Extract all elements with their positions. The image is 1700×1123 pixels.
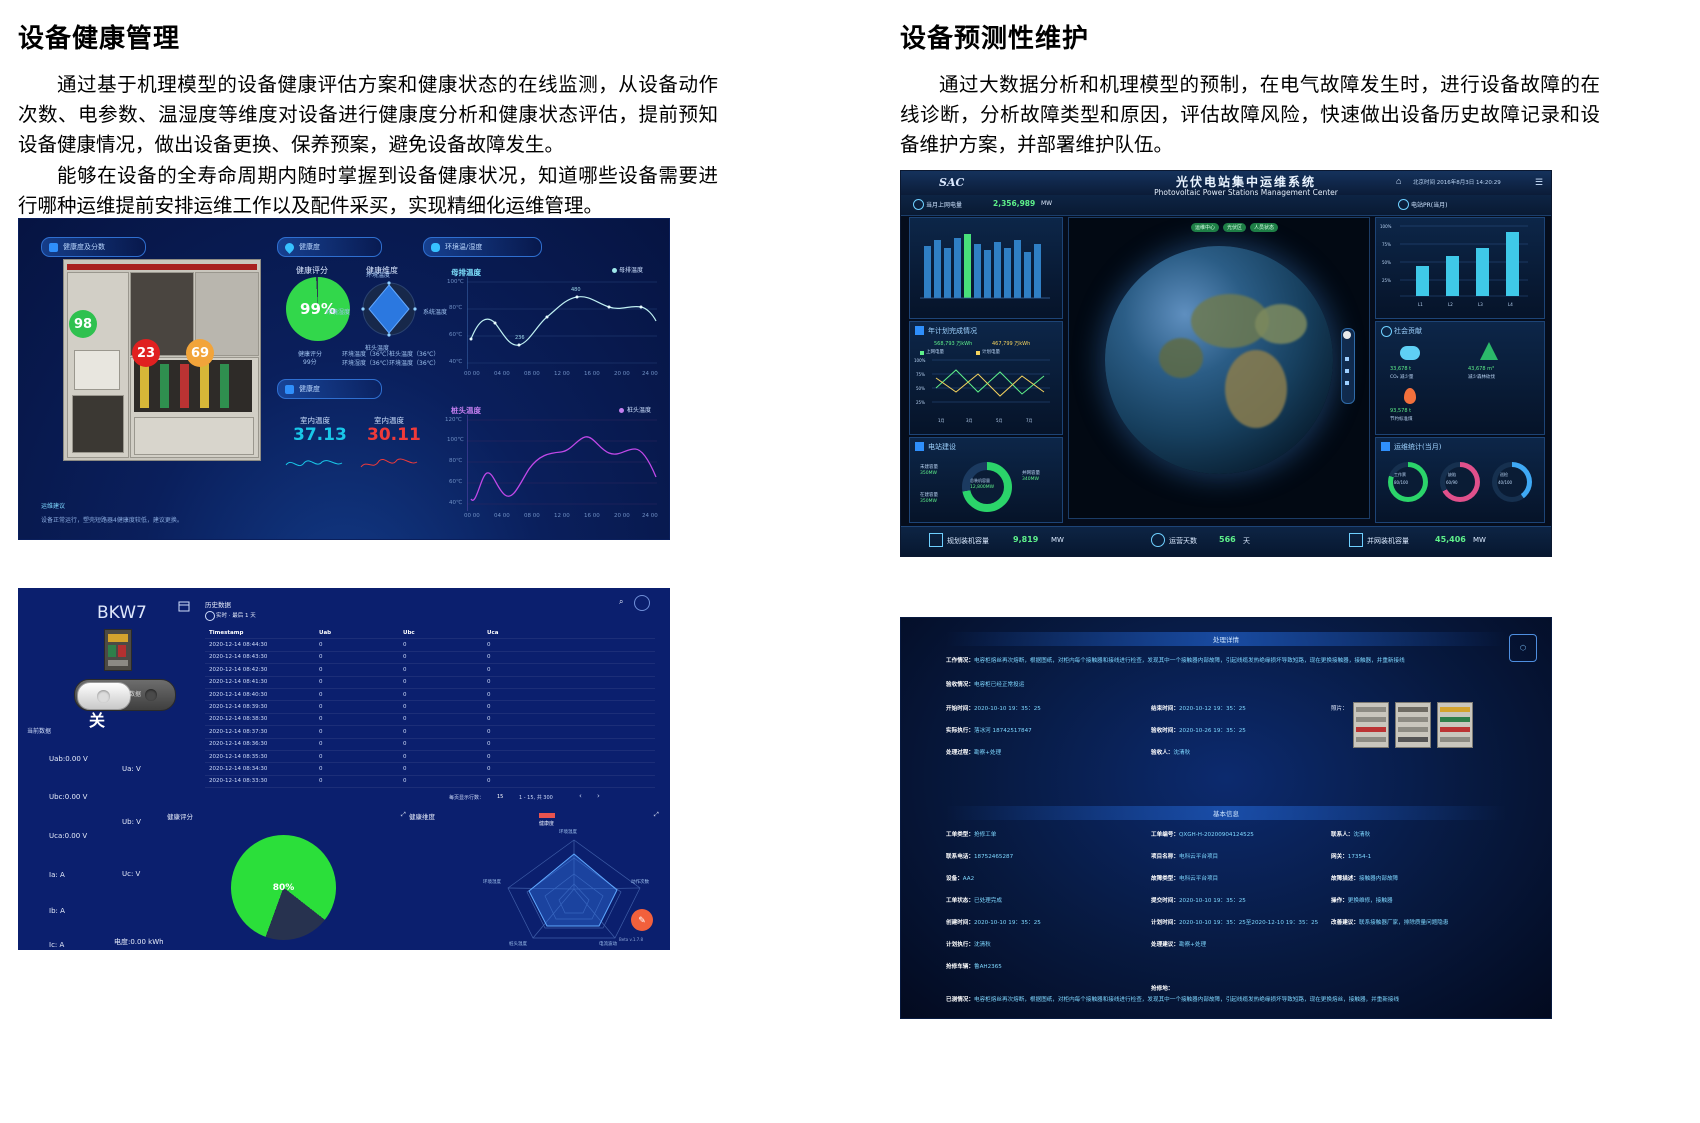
pv-build-panel: 电站建设 未建容量 350MW 在建容量 350MW 并网容量 340MW 总装…: [909, 437, 1063, 523]
power-toggle-knob[interactable]: [77, 682, 131, 710]
switchgear-photo: [63, 259, 261, 461]
busbar-y-0: 100℃: [447, 279, 464, 285]
legend-row1-col1: 环境温度（36℃）: [342, 349, 392, 358]
measure-ib: Ib: A: [49, 907, 65, 915]
pv-pr-y1: 75%: [1382, 242, 1391, 247]
pv-footer-value-2: 45,406: [1435, 535, 1466, 544]
basic-field-value: 已处理完成: [974, 898, 1002, 904]
breaker-image: [104, 629, 132, 671]
pv-build-label-3: 并网容量: [1022, 470, 1040, 476]
measure-ub: Ub: V: [122, 818, 141, 826]
basic-field-value: 沈清秋: [974, 942, 991, 948]
cell-value: 0: [403, 642, 487, 648]
right-paragraph-1: 通过大数据分析和机理模型的预制，在电气故障发生时，进行设备故障的在线诊断，分析故…: [900, 71, 1600, 162]
cell-timestamp: 2020-12-14 08:44:30: [205, 642, 319, 648]
detail-row-0-left-value: 2020-10-10 19：35：25: [974, 706, 1041, 712]
cell-value: 0: [319, 654, 403, 660]
tree-icon: [1480, 342, 1498, 360]
busbar-chart-legend: 母排温度: [619, 265, 643, 274]
cell-value: 0: [319, 754, 403, 760]
home-icon[interactable]: ⌂: [1396, 176, 1401, 186]
table-row[interactable]: 2020-12-14 08:37:30000: [205, 726, 655, 738]
table-row[interactable]: 2020-12-14 08:43:30000: [205, 652, 655, 664]
work-order-screenshot: 处理详情 ⬡ 工作情况：电容柜熔丝再次熔断，根据图纸，对柜内每个接触器和接线进行…: [900, 617, 1552, 1019]
busbar-temperature-chart: 236 480: [467, 277, 657, 369]
left-paragraph-1: 通过基于机理模型的设备健康评估方案和健康状态的在线监测，从设备动作次数、电参数、…: [18, 71, 718, 162]
zoom-slider[interactable]: [1341, 328, 1355, 404]
busbar-legend-dot: [612, 268, 617, 273]
pv-yearplan-panel: 年计划完成情况 568,793 万kWh 467,799 万kWh 上网电量 计…: [909, 321, 1063, 435]
basic-field-value: 更换维修，接触器: [1348, 898, 1393, 904]
pv-social-value-2: 93,578 t: [1390, 408, 1411, 414]
switch-state: 关: [89, 707, 105, 731]
measure-uca: Uca:0.00 V: [49, 832, 87, 840]
legend-row1-col2: 桩头温度（36℃）: [389, 349, 439, 358]
radar-axis-3: 环境湿度: [326, 307, 350, 316]
section-header-detail: 处理详情: [946, 632, 1506, 646]
calendar-days-icon: [1151, 533, 1165, 547]
cell-timestamp: 2020-12-14 08:42:30: [205, 667, 319, 673]
cell-timestamp: 2020-12-14 08:37:30: [205, 729, 319, 735]
basic-field: 故障描述：接触器内部故障: [1331, 874, 1398, 882]
device-name: BKW7: [97, 603, 147, 623]
basic-field: 处理建议：勘察+处理: [1151, 940, 1206, 948]
pv-yearplan-y1: 75%: [916, 372, 925, 377]
basic-field: 联系电话：18752465287: [946, 852, 1013, 860]
legend-dot-grid: [920, 351, 924, 355]
basic-field: 工单类型：抢修工单: [946, 830, 996, 838]
cell-value: 0: [487, 741, 571, 747]
pv-ops-value-1: 60/90: [1446, 480, 1458, 485]
search-icon[interactable]: ⌕: [619, 597, 623, 607]
left-paragraphs: 通过基于机理模型的设备健康评估方案和健康状态的在线监测，从设备动作次数、电参数、…: [18, 71, 718, 222]
radar2-legend-swatch: [539, 813, 555, 818]
radar2-label: 健康维度: [409, 811, 435, 821]
page-size-label: 每页显示行数：: [449, 794, 484, 801]
cell-value: 0: [319, 667, 403, 673]
table-row[interactable]: 2020-12-14 08:33:30000: [205, 776, 655, 788]
basic-field-value: 接触器内部故障: [1359, 876, 1398, 882]
detail-row-2-left: 处理过程：勘察+处理: [946, 748, 1001, 756]
pv-footer-value-1: 566: [1219, 535, 1236, 544]
detail-row-2-left-value: 勘察+处理: [974, 750, 1001, 756]
pv-yearplan-legend-0: 上网电量: [926, 349, 944, 355]
pv-build-label-0: 未建容量: [920, 464, 938, 470]
pile-temperature-chart: [467, 415, 657, 511]
history-title: 历史数据: [205, 599, 231, 609]
radar-axis-1: 系统温度: [423, 307, 447, 316]
busbar-x-6: 24 00: [642, 371, 658, 377]
right-column: 设备预测性维护 通过大数据分析和机理模型的预制，在电气故障发生时，进行设备故障的…: [900, 0, 1600, 162]
pv-build-value-0: 350MW: [920, 471, 937, 476]
pv-stat-left-unit: MW: [1041, 200, 1052, 207]
indoor-temp-value-2: 30.11: [367, 425, 421, 445]
basic-field-value: AA2: [963, 876, 974, 882]
pv-management-screenshot: SAC 光伏电站集中运维系统 Photovoltaic Power Statio…: [900, 170, 1552, 557]
radar2-axis-0: 环境温度: [559, 829, 577, 835]
basic-field-label: 工单编号：: [1151, 832, 1179, 838]
basic-field-label: 故障描述：: [1331, 876, 1359, 882]
basic-field-value: 鲁AH2365: [974, 964, 1002, 970]
pv-ops-value-2: 40/100: [1498, 480, 1512, 485]
cell-value: 0: [403, 679, 487, 685]
busbar-y-3: 40℃: [449, 359, 462, 365]
pile-y-2: 80℃: [449, 458, 462, 464]
pv-yearplan-y3: 25%: [916, 400, 925, 405]
score-bubble-3[interactable]: 69: [186, 339, 214, 367]
detail-row-0-left-label: 开始时间：: [946, 706, 974, 712]
pv-yearplan-x2: 5月: [996, 418, 1003, 424]
pv-yearplan-value-0: 568,793 万kWh: [934, 340, 972, 347]
detail-row-1-right: 验收时间：2020-10-26 19：35：25: [1151, 726, 1246, 734]
gauge-label: 健康评分: [167, 811, 193, 821]
pv-yearplan-title: 年计划完成情况: [928, 326, 977, 336]
pile-x-0: 00 00: [464, 513, 480, 519]
basic-field: 设备：AA2: [946, 874, 974, 882]
toggle-data-label: 数据: [129, 689, 141, 698]
pv-pr-x3: L4: [1508, 302, 1513, 307]
basic-field-value: 2020-10-10 19：35：25: [1179, 898, 1246, 904]
table-row[interactable]: 2020-12-14 08:41:30000: [205, 677, 655, 689]
cell-timestamp: 2020-12-14 08:41:30: [205, 679, 319, 685]
heart-icon: [283, 241, 296, 254]
detail-value-1: 电容柜已经正常投运: [974, 682, 1024, 688]
more-icon[interactable]: [634, 595, 650, 611]
radar2-axis-4: 环境湿度: [483, 879, 501, 885]
detail-row-1-left-value: 落冰河 18742517847: [974, 728, 1032, 734]
cell-value: 0: [487, 778, 571, 784]
radar-axis-0: 环境温度: [366, 270, 390, 279]
pv-footer-value-0: 9,819: [1013, 535, 1038, 544]
indoor-temp-value-1: 37.13: [293, 425, 347, 445]
panel-title-env: 环境温/湿度: [445, 242, 482, 252]
attachment-photo-3[interactable]: [1437, 702, 1473, 748]
th-timestamp[interactable]: Timestamp: [205, 630, 319, 636]
cell-timestamp: 2020-12-14 08:36:30: [205, 741, 319, 747]
cell-value: 0: [403, 667, 487, 673]
sac-logo: SAC: [939, 176, 964, 189]
cloud-co2-icon: [1400, 346, 1420, 360]
basic-field-value: 联系接触器厂家，排除质量问题隐患: [1359, 920, 1449, 926]
th-uca[interactable]: Uca: [487, 630, 571, 636]
basic-field-label: 处理建议：: [1151, 942, 1179, 948]
pile-legend-dot: [619, 408, 624, 413]
basic-field-value: 沈清秋: [1353, 832, 1370, 838]
table-row[interactable]: 2020-12-14 08:34:30000: [205, 763, 655, 775]
legend-row2-col1: 环境湿度（36℃）: [342, 358, 392, 367]
expand-icon-left[interactable]: ⤢: [401, 811, 406, 819]
cell-timestamp: 2020-12-14 08:43:30: [205, 654, 319, 660]
health-radar-chart: [357, 277, 421, 341]
slide-page: 设备健康管理 通过基于机理模型的设备健康评估方案和健康状态的在线监测，从设备动作…: [0, 0, 1700, 1123]
pv-build-label-2: 在建容量: [920, 492, 938, 498]
legend-dot-plan: [976, 351, 980, 355]
edit-fab-button[interactable]: ✎: [631, 909, 653, 931]
cell-timestamp: 2020-12-14 08:38:30: [205, 716, 319, 722]
cell-value: 0: [487, 654, 571, 660]
measure-ic: Ic: A: [49, 941, 64, 949]
prev-page-button[interactable]: ‹: [579, 792, 582, 800]
detail-row-2-right-label: 验收人：: [1151, 750, 1173, 756]
radar2-axis-2: 电流波动: [599, 941, 617, 947]
cell-value: 0: [403, 754, 487, 760]
basic-field-value: 电科云平台项目: [1179, 854, 1218, 860]
busbar-x-5: 20 00: [614, 371, 630, 377]
ops-advice-title: 运维建议: [41, 501, 65, 510]
detail-label-1: 验收情况：: [946, 682, 974, 688]
basic-field-label: 计划执行：: [946, 942, 974, 948]
busbar-x-1: 04 00: [494, 371, 510, 377]
pv-build-label-4: 总装机容量: [970, 478, 990, 484]
pv-title-en: Photovoltaic Power Stations Management C…: [1111, 188, 1381, 197]
detail-row-1-left-label: 实际执行：: [946, 728, 974, 734]
measure-kwh: 电度:0.00 kWh: [114, 937, 164, 947]
detail-row-1-right-label: 验收时间：: [1151, 728, 1179, 734]
cell-timestamp: 2020-12-14 08:33:30: [205, 778, 319, 784]
table-row[interactable]: 2020-12-14 08:35:30000: [205, 751, 655, 763]
cell-value: 0: [319, 692, 403, 698]
basic-field: 抢修车辆：鲁AH2365: [946, 962, 1002, 970]
history-range: 实时 · 最后 1 天: [216, 611, 256, 619]
pv-footer-unit-1: 天: [1243, 536, 1250, 546]
detail-row-0-right: 结束时间：2020-10-12 19：35：25: [1151, 704, 1246, 712]
cell-value: 0: [319, 642, 403, 648]
measure-ubc: Ubc:0.00 V: [49, 793, 87, 801]
section-header-basic: 基本信息: [946, 806, 1506, 820]
detail-row-2-right: 验收人：沈清秋: [1151, 748, 1190, 756]
attachment-photo-2[interactable]: [1395, 702, 1431, 748]
detail-row-0-left: 开始时间：2020-10-10 19：35：25: [946, 704, 1041, 712]
expand-icon-right[interactable]: ⤢: [654, 811, 659, 819]
detail-row-1-right-value: 2020-10-26 19：35：25: [1179, 728, 1246, 734]
order-footer-value: 电容柜熔丝再次熔断，根据图纸，对柜内每个接触器和接线进行检查，发现其中一个接触器…: [974, 997, 1399, 1003]
pv-pr-y0: 100%: [1380, 224, 1391, 229]
pv-tag-2[interactable]: 人员状态: [1250, 223, 1278, 232]
pile-x-3: 12 00: [554, 513, 570, 519]
logo-badge: ⬡: [1509, 634, 1537, 662]
detail-row-2-left-label: 处理过程：: [946, 750, 974, 756]
pv-yearplan-y2: 50%: [916, 386, 925, 391]
basic-field: 提交时间：2020-10-10 19：35：25: [1151, 896, 1246, 904]
table-row[interactable]: 2020-12-14 08:39:30000: [205, 701, 655, 713]
pv-yearplan-x3: 7月: [1026, 418, 1033, 424]
pv-social-value-0: 33,678 t: [1390, 366, 1411, 372]
legend-row2-col2: 环境温度（36℃）: [389, 358, 439, 367]
pv-pr-x2: L3: [1478, 302, 1483, 307]
cell-timestamp: 2020-12-14 08:39:30: [205, 704, 319, 710]
ops-advice-text: 设备正常运行，塑壳短路器4健康度较低，建议更换。: [41, 515, 183, 524]
basic-field-label: 设备：: [946, 876, 963, 882]
pv-monthly-bars: [910, 218, 1060, 316]
pv-stat-left-label: 当月上网电量: [926, 200, 962, 209]
pv-pr-y3: 25%: [1382, 278, 1391, 283]
pile-x-2: 08 00: [524, 513, 540, 519]
pv-social-label-1: 减少森林砍伐: [1468, 374, 1495, 380]
clock-icon: [205, 611, 215, 621]
pv-pr-x0: L1: [1418, 302, 1423, 307]
cell-value: 0: [403, 766, 487, 772]
measure-ia: Ia: A: [49, 871, 65, 879]
busbar-x-2: 08 00: [524, 371, 540, 377]
pile-chart-legend: 桩头温度: [627, 405, 651, 414]
basic-field-value: 电科云平台项目: [1179, 876, 1218, 882]
clipboard-icon: [1381, 442, 1390, 451]
table-row[interactable]: 2020-12-14 08:44:30000: [205, 639, 655, 651]
page-size-value[interactable]: 15: [497, 794, 503, 800]
basic-field-label: 工单类型：: [946, 832, 974, 838]
pv-yearplan-x1: 3月: [966, 418, 973, 424]
basic-field-label: 项目名称：: [1151, 854, 1179, 860]
table-row[interactable]: 2020-12-14 08:42:30000: [205, 664, 655, 676]
busbar-x-0: 00 00: [464, 371, 480, 377]
cell-value: 0: [487, 716, 571, 722]
version-label: Beta v.1.7.8: [619, 937, 643, 942]
pv-tag-0[interactable]: 运维中心: [1191, 223, 1219, 232]
history-table[interactable]: Timestamp Uab Ubc Uca 2020-12-14 08:44:3…: [205, 627, 655, 788]
pv-social-title: 社会贡献: [1394, 326, 1422, 336]
basic-field-label: 操作：: [1331, 898, 1348, 904]
pv-yearplan-lines: [932, 358, 1052, 414]
detail-label-0: 工作情况：: [946, 658, 974, 664]
pv-ops-label-0: 工作票: [1394, 472, 1406, 478]
table-row[interactable]: 2020-12-14 08:40:30000: [205, 689, 655, 701]
cell-value: 0: [319, 741, 403, 747]
pv-pr-bars: [1400, 224, 1530, 300]
panel-header-health: 健康度: [277, 237, 382, 257]
pv-ops-panel: 运维统计(当月) 工作票 80/100 缺陷 60/90 巡检 40/100: [1375, 437, 1545, 523]
score-bubble-1[interactable]: 98: [69, 310, 97, 338]
th-ubc[interactable]: Ubc: [403, 630, 487, 636]
cell-value: 0: [319, 766, 403, 772]
cell-value: 0: [403, 654, 487, 660]
page-title-right: 设备预测性维护: [900, 18, 1600, 55]
photo-label: 照片：: [1331, 704, 1348, 712]
pv-ops-value-0: 80/100: [1394, 480, 1408, 485]
pv-footer-label-0: 规划装机容量: [947, 536, 989, 546]
menu-icon[interactable]: ☰: [1535, 177, 1543, 188]
panel-title-photo: 健康度及分数: [63, 242, 105, 252]
basic-field-label: 抢修车辆：: [946, 964, 974, 970]
panel-header-health2: 健康度: [277, 379, 382, 399]
pv-tag-row: 运维中心 光伏区 人员状态: [1191, 223, 1278, 232]
detail-row-1-left: 实际执行：落冰河 18742517847: [946, 726, 1032, 734]
pv-social-value-1: 43,678 m³: [1468, 366, 1494, 372]
svg-text:236: 236: [515, 335, 525, 341]
basic-field-value: 18752465287: [974, 854, 1013, 860]
panel-header-env: 环境温/湿度: [423, 237, 542, 257]
right-paragraphs: 通过大数据分析和机理模型的预制，在电气故障发生时，进行设备故障的在线诊断，分析故…: [900, 71, 1600, 162]
cell-value: 0: [403, 778, 487, 784]
detail-row-0-right-value: 2020-10-12 19：35：25: [1179, 706, 1246, 712]
basic-field-label: 抢修地：: [1151, 986, 1173, 992]
pv-social-label-0: CO₂ 减少量: [1390, 374, 1413, 380]
pv-ops-title: 运维统计(当月): [1394, 442, 1441, 452]
cell-value: 0: [487, 766, 571, 772]
left-column: 设备健康管理 通过基于机理模型的设备健康评估方案和健康状态的在线监测，从设备动作…: [18, 0, 718, 222]
pv-stat-left-value: 2,356,989: [993, 199, 1035, 208]
basic-field: 故障类型：电科云平台项目: [1151, 874, 1218, 882]
basic-field-label: 工单状态：: [946, 898, 974, 904]
radar2-axis-3: 桩头温度: [509, 941, 527, 947]
indoor-temp-sparkline-1: [284, 451, 344, 473]
basic-field: 项目名称：电科云平台项目: [1151, 852, 1218, 860]
cloud-icon: [431, 243, 440, 252]
building-icon: [915, 442, 924, 451]
pv-yearplan-legend-1: 计划电量: [982, 349, 1000, 355]
next-page-button[interactable]: ›: [597, 792, 600, 800]
pv-monthly-panel: [909, 217, 1063, 319]
pv-ops-label-1: 缺陷: [1448, 472, 1456, 478]
pile-x-1: 04 00: [494, 513, 510, 519]
pile-y-0: 120℃: [445, 417, 462, 423]
flame-icon: [1404, 388, 1416, 404]
pv-tag-1[interactable]: 光伏区: [1223, 223, 1246, 232]
basic-field: 联系人：沈清秋: [1331, 830, 1370, 838]
leaf-icon: [1381, 326, 1392, 337]
calendar-icon[interactable]: [177, 599, 191, 613]
basic-field: 工单状态：已处理完成: [946, 896, 1002, 904]
th-uab[interactable]: Uab: [319, 630, 403, 636]
radar2-legend-label: 健康度: [539, 820, 554, 827]
page-range: 1 - 15, 共 300: [519, 794, 553, 801]
basic-field: 工单编号：QXGH-H-20200904124525: [1151, 830, 1254, 838]
basic-field-value: 抢修工单: [974, 832, 996, 838]
chart-icon: [915, 326, 924, 335]
pv-datetime: 北京时间 2016年8月3日 14:20:29: [1413, 178, 1501, 186]
basic-field: 操作：更换维修，接触器: [1331, 896, 1393, 904]
basic-field-value: QXGH-H-20200904124525: [1179, 832, 1254, 838]
basic-field: 网关：17354-1: [1331, 852, 1371, 860]
cell-value: 0: [487, 692, 571, 698]
pile-y-1: 100℃: [447, 437, 464, 443]
pv-yearplan-y0: 100%: [914, 358, 925, 363]
pile-x-6: 24 00: [642, 513, 658, 519]
table-header-row: Timestamp Uab Ubc Uca: [205, 627, 655, 639]
panel-title-health: 健康度: [299, 242, 320, 252]
basic-field-value: 2020-10-10 19：35：25: [974, 920, 1041, 926]
basic-field-label: 计划时间：: [1151, 920, 1179, 926]
attachment-photo-1[interactable]: [1353, 702, 1389, 748]
cell-timestamp: 2020-12-14 08:40:30: [205, 692, 319, 698]
cell-value: 0: [403, 692, 487, 698]
pv-build-title: 电站建设: [928, 442, 956, 452]
score-bubble-2[interactable]: 23: [132, 339, 160, 367]
basic-field-label: 联系电话：: [946, 854, 974, 860]
power-icon: [913, 199, 924, 210]
pv-pr-x1: L2: [1448, 302, 1453, 307]
busbar-y-2: 60℃: [449, 332, 462, 338]
basic-field-value: 2020-10-10 19：35：25至2020-12-10 19：35：25: [1179, 920, 1318, 926]
basic-field-label: 网关：: [1331, 854, 1348, 860]
pv-footer-unit-2: MW: [1473, 536, 1486, 544]
cell-value: 0: [403, 729, 487, 735]
cell-timestamp: 2020-12-14 08:35:30: [205, 754, 319, 760]
cell-value: 0: [319, 729, 403, 735]
pv-footer-label-1: 运营天数: [1169, 536, 1197, 546]
basic-field: 抢修地：: [1151, 984, 1173, 992]
table-row[interactable]: 2020-12-14 08:38:30000: [205, 714, 655, 726]
detail-row-0-right-label: 结束时间：: [1151, 706, 1179, 712]
gauge-icon: [285, 385, 294, 394]
cell-value: 0: [319, 679, 403, 685]
cell-value: 0: [487, 704, 571, 710]
table-row[interactable]: 2020-12-14 08:36:30000: [205, 739, 655, 751]
pile-y-3: 60℃: [449, 479, 462, 485]
basic-field-value: 勘察+处理: [1179, 942, 1206, 948]
left-paragraph-2: 能够在设备的全寿命周期内随时掌握到设备健康状况，知道哪些设备需要进行哪种运维提前…: [18, 162, 718, 222]
earth-globe[interactable]: [1105, 246, 1333, 474]
pv-build-value-2: 350MW: [920, 499, 937, 504]
